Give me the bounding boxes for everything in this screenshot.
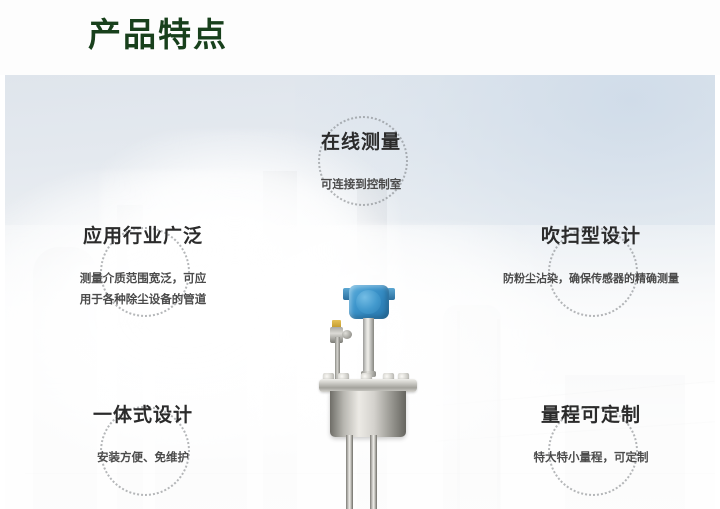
probe-rod-right (370, 435, 377, 509)
page-header: 产品特点 (0, 0, 720, 75)
feature-subtitle: 可连接到控制室 (261, 176, 461, 195)
feature-subtitle-line-2: 用于各种除尘设备的管道 (43, 291, 243, 310)
feature-wide-application: 应用行业广泛 测量介质范围宽泛，可应 用于各种除尘设备的管道 (43, 224, 243, 310)
feature-photo-panel: 在线测量 可连接到控制室 应用行业广泛 测量介质范围宽泛，可应 用于各种除尘设备… (5, 75, 715, 509)
feature-subtitle: 安装方便、免维护 (43, 449, 243, 468)
feature-heading: 量程可定制 (491, 403, 691, 429)
feature-custom-range: 量程可定制 特大特小量程，可定制 (491, 403, 691, 468)
sensor-housing-body (330, 391, 406, 437)
transmitter-neck (363, 318, 374, 376)
feature-subtitle-line-1: 测量介质范围宽泛，可应 (43, 270, 243, 289)
feature-online-measurement: 在线测量 可连接到控制室 (261, 130, 461, 195)
feature-heading: 一体式设计 (43, 403, 243, 429)
feature-integrated-design: 一体式设计 安装方便、免维护 (43, 403, 243, 468)
feature-heading: 应用行业广泛 (43, 224, 243, 250)
product-features-page: 产品特点 (0, 0, 720, 509)
page-title: 产品特点 (88, 14, 228, 56)
purge-valve-knob (342, 330, 352, 339)
feature-heading: 在线测量 (261, 130, 461, 156)
probe-rod-left (346, 435, 353, 509)
feature-heading: 吹扫型设计 (491, 224, 691, 250)
feature-subtitle: 特大特小量程，可定制 (491, 449, 691, 468)
feature-purge-design: 吹扫型设计 防粉尘沾染，确保传感器的精确测量 (491, 224, 691, 289)
product-image-dust-probe (305, 275, 425, 509)
feature-subtitle: 防粉尘沾染，确保传感器的精确测量 (491, 270, 691, 289)
transmitter-display-cover (356, 290, 381, 314)
